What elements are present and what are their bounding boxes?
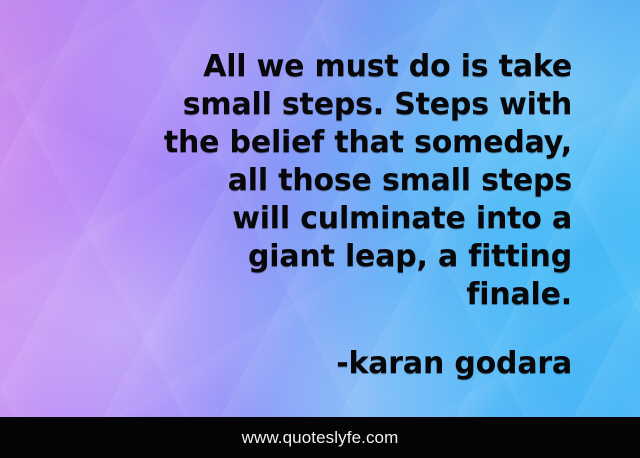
quote-line: the belief that someday, xyxy=(44,124,572,162)
footer-bar: www.quoteslyfe.com xyxy=(0,417,640,458)
quote-line: will culminate into a xyxy=(44,200,572,238)
quote-text-block: All we must do is take small steps. Step… xyxy=(44,48,572,314)
quote-line: all those small steps xyxy=(44,162,572,200)
quote-line: All we must do is take xyxy=(44,48,572,86)
quote-line: finale. xyxy=(44,276,572,314)
quote-card: All we must do is take small steps. Step… xyxy=(0,0,640,458)
quote-attribution: -karan godara xyxy=(44,345,572,383)
quote-line: giant leap, a fitting xyxy=(44,238,572,276)
footer-website-url: www.quoteslyfe.com xyxy=(242,428,399,448)
quote-line: small steps. Steps with xyxy=(44,86,572,124)
